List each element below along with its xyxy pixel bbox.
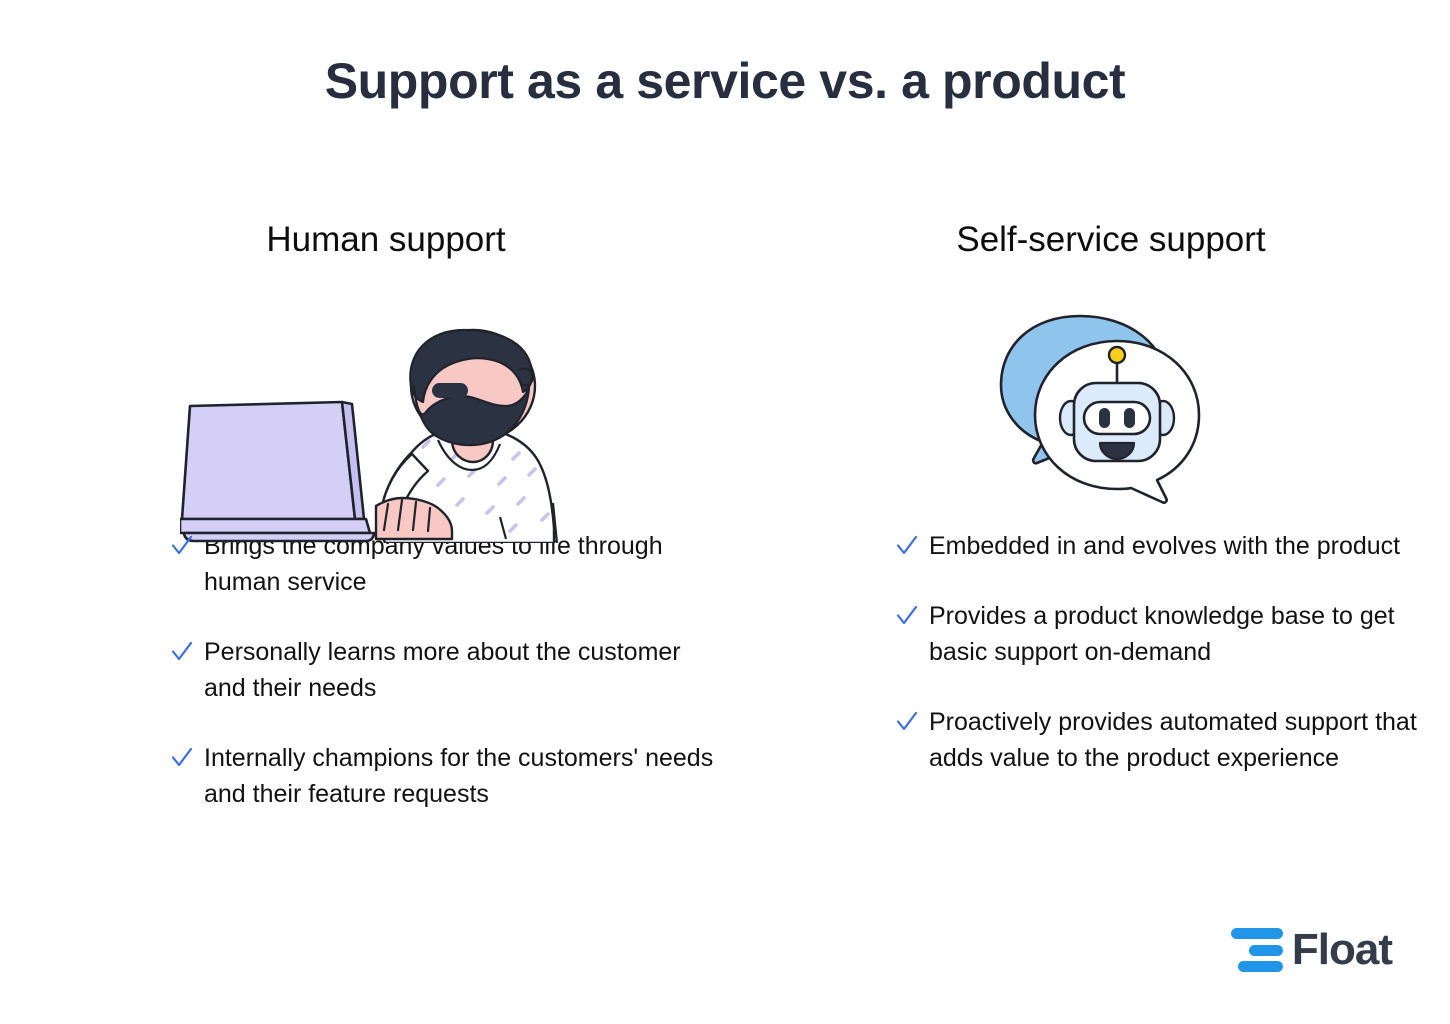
list-item: Embedded in and evolves with the product (895, 528, 1450, 564)
list-item: Internally champions for the customers' … (170, 740, 725, 812)
column-human-support: Human support (0, 210, 725, 910)
bullet-text: Provides a product knowledge base to get… (929, 598, 1419, 670)
check-icon (170, 744, 194, 771)
column-heading-self-service-support: Self-service support (831, 210, 1391, 270)
list-item: Provides a product knowledge base to get… (895, 598, 1450, 670)
self-service-support-illustration (985, 308, 1215, 513)
list-item: Personally learns more about the custome… (170, 634, 725, 706)
check-icon (895, 708, 919, 735)
infographic-page: Support as a service vs. a product Human… (0, 0, 1450, 1024)
column-self-service-support: Self-service support (725, 210, 1450, 910)
check-icon (170, 638, 194, 665)
bullet-text: Proactively provides automated support t… (929, 704, 1419, 776)
bullet-list-self-service-support: Embedded in and evolves with the product… (895, 528, 1450, 776)
logo-bar-top (1231, 928, 1283, 939)
check-icon (170, 532, 194, 559)
list-item: Proactively provides automated support t… (895, 704, 1450, 776)
bullet-text: Embedded in and evolves with the product (929, 528, 1400, 564)
float-logo: Float (1231, 928, 1392, 972)
bullet-text: Personally learns more about the custome… (204, 634, 724, 706)
bullet-text: Internally champions for the customers' … (204, 740, 724, 812)
logo-bar-bottom (1238, 961, 1283, 972)
column-heading-human-support: Human support (106, 210, 666, 270)
bullet-list-human-support: Brings the company values to life throug… (170, 528, 725, 812)
check-icon (895, 532, 919, 559)
comparison-columns: Human support (0, 210, 1450, 910)
float-logo-mark (1231, 928, 1283, 972)
logo-bar-middle (1249, 945, 1283, 956)
page-title: Support as a service vs. a product (0, 52, 1450, 110)
illustration-area-human-support (60, 270, 725, 520)
check-icon (895, 602, 919, 629)
float-logo-wordmark: Float (1292, 928, 1392, 972)
human-support-illustration (180, 328, 580, 548)
illustration-area-self-service-support (785, 270, 1450, 520)
